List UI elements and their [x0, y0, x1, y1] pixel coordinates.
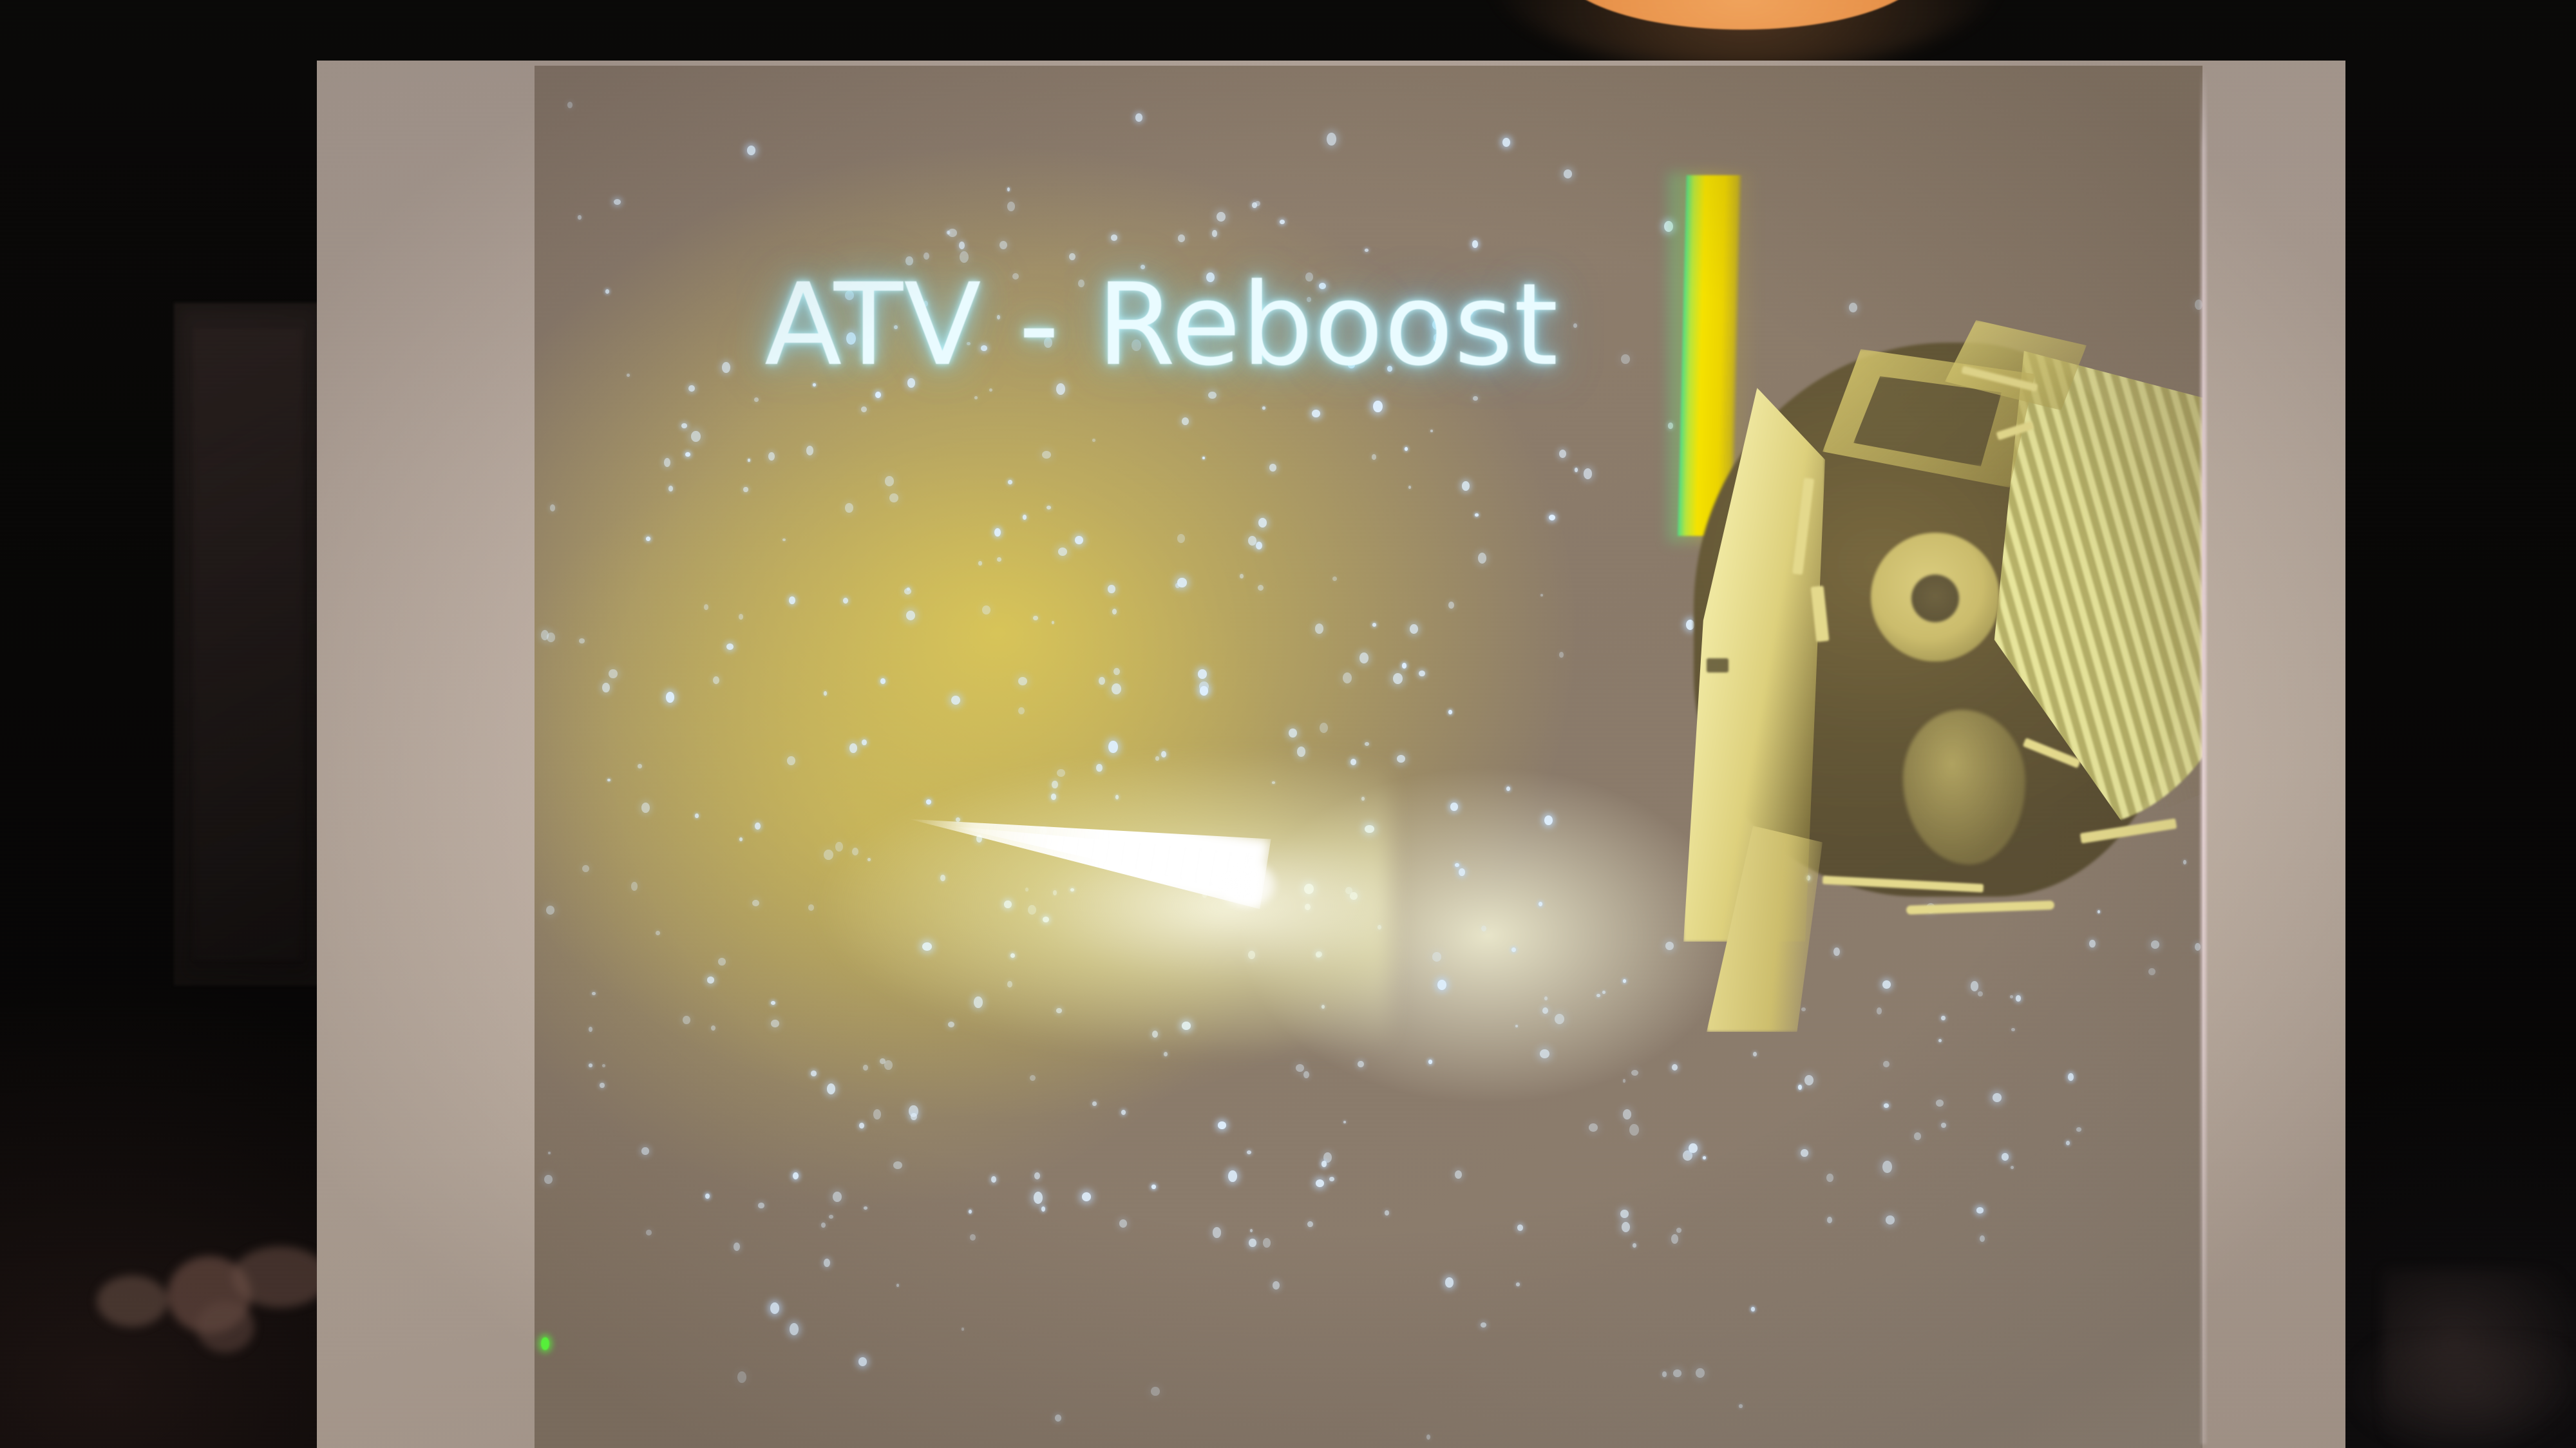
- star: [1502, 138, 1510, 147]
- star: [1255, 201, 1260, 206]
- star: [1249, 1239, 1256, 1247]
- star: [1240, 574, 1244, 578]
- star: [1177, 534, 1185, 543]
- star: [1046, 506, 1051, 510]
- star: [579, 638, 585, 643]
- star: [2002, 1153, 2009, 1161]
- star: [544, 1175, 553, 1184]
- star: [969, 1210, 972, 1214]
- star: [722, 362, 730, 373]
- star: [726, 643, 734, 650]
- star: [739, 837, 743, 841]
- star: [824, 691, 827, 696]
- star: [1516, 1282, 1520, 1286]
- star: [1696, 1368, 1705, 1378]
- star: [582, 865, 589, 872]
- star: [1273, 1281, 1280, 1290]
- star: [541, 630, 549, 640]
- star: [713, 676, 719, 684]
- star: [906, 611, 915, 620]
- star: [1481, 1322, 1486, 1328]
- atv-spacecraft: [1546, 66, 2202, 1032]
- star: [754, 397, 759, 402]
- star: [1315, 624, 1323, 634]
- star: [1269, 464, 1276, 472]
- star: [718, 958, 726, 966]
- star: [1941, 1123, 1946, 1128]
- star: [1052, 621, 1054, 624]
- star: [567, 102, 573, 108]
- star: [1111, 234, 1117, 241]
- star: [861, 406, 867, 412]
- star: [666, 692, 674, 703]
- star: [1753, 1052, 1757, 1056]
- star: [999, 241, 1007, 249]
- star: [1405, 447, 1408, 451]
- star: [951, 696, 960, 705]
- star: [863, 1065, 868, 1071]
- star: [627, 374, 630, 377]
- star: [997, 557, 1001, 562]
- star: [1343, 672, 1352, 683]
- star: [1312, 410, 1320, 417]
- star: [1329, 1177, 1334, 1181]
- star: [1042, 451, 1051, 459]
- star: [1023, 515, 1027, 520]
- star: [991, 1176, 996, 1183]
- star: [1018, 707, 1025, 714]
- star: [771, 1001, 775, 1005]
- star: [641, 1147, 649, 1155]
- star: [1883, 1061, 1889, 1067]
- star: [1030, 1075, 1036, 1081]
- star: [884, 1060, 893, 1070]
- star: [1445, 1277, 1454, 1288]
- star: [589, 1027, 592, 1032]
- star: [1303, 1071, 1309, 1078]
- star: [824, 1259, 830, 1267]
- star: [911, 1113, 917, 1120]
- star: [1703, 1156, 1706, 1159]
- slide-title: ATV - Reboost: [764, 259, 1558, 391]
- star: [1683, 1150, 1692, 1161]
- star: [1092, 1101, 1097, 1106]
- presentation-slide: ATV - Reboost: [535, 66, 2202, 1448]
- star: [1296, 1064, 1304, 1072]
- star: [875, 392, 881, 398]
- star: [843, 598, 848, 604]
- framed-picture-inner: [193, 329, 303, 960]
- star: [1826, 1174, 1833, 1182]
- star: [1119, 1219, 1127, 1228]
- star: [638, 764, 642, 768]
- star: [1623, 1079, 1625, 1083]
- star: [1135, 113, 1142, 122]
- star: [1343, 1121, 1346, 1123]
- star: [1151, 1185, 1156, 1189]
- star: [1372, 454, 1376, 460]
- star: [827, 1083, 835, 1094]
- star: [889, 493, 898, 502]
- star: [994, 528, 1001, 537]
- star: [2011, 1166, 2014, 1169]
- star: [1980, 1235, 1985, 1242]
- star: [711, 1025, 715, 1031]
- thruster-nozzle-flash: [1218, 862, 1276, 907]
- star: [1280, 220, 1285, 224]
- star: [1976, 1207, 1984, 1214]
- star: [743, 487, 748, 492]
- star: [1202, 457, 1205, 459]
- star: [1884, 1103, 1889, 1108]
- star: [829, 1215, 833, 1219]
- star: [1426, 1434, 1430, 1440]
- star: [948, 229, 957, 237]
- star: [1827, 1217, 1832, 1223]
- star: [1217, 212, 1226, 222]
- star: [1739, 1404, 1743, 1408]
- star: [1410, 624, 1418, 634]
- star: [1008, 480, 1012, 484]
- star: [858, 1357, 867, 1366]
- star: [1539, 902, 1542, 906]
- star: [1258, 585, 1264, 591]
- star: [885, 476, 894, 486]
- star: [1408, 486, 1411, 489]
- star: [1178, 234, 1185, 242]
- star: [961, 1328, 964, 1331]
- star: [592, 992, 596, 995]
- star: [1478, 553, 1486, 564]
- star: [1882, 1161, 1892, 1173]
- star: [1540, 594, 1543, 596]
- star: [685, 452, 690, 457]
- star: [748, 459, 750, 462]
- star: [1511, 948, 1516, 952]
- star: [1175, 583, 1180, 588]
- projection-screen: ATV - Reboost: [317, 61, 2345, 1448]
- star: [1432, 952, 1441, 962]
- star: [631, 882, 638, 891]
- star: [1200, 686, 1208, 696]
- star: [1506, 786, 1510, 791]
- star: [1041, 1206, 1045, 1212]
- star: [1631, 1070, 1638, 1076]
- star: [1462, 481, 1470, 491]
- star: [1199, 681, 1209, 691]
- star: [1034, 1192, 1043, 1204]
- star: [1673, 1369, 1681, 1377]
- star: [1993, 1093, 2002, 1102]
- star: [1208, 392, 1217, 399]
- star: [1662, 1371, 1667, 1377]
- star: [688, 385, 695, 392]
- star: [1804, 1075, 1814, 1085]
- star: [1540, 1049, 1549, 1058]
- star: [1450, 803, 1458, 811]
- star: [691, 431, 701, 442]
- star: [864, 1206, 867, 1210]
- star: [821, 1223, 826, 1228]
- star: [1108, 585, 1115, 593]
- star: [793, 1172, 799, 1179]
- star: [602, 683, 610, 692]
- star: [1018, 677, 1027, 685]
- star: [1055, 1415, 1061, 1422]
- star: [605, 289, 609, 294]
- star: [1151, 1387, 1160, 1396]
- star: [1372, 623, 1376, 627]
- star: [1121, 1110, 1126, 1115]
- star: [1177, 578, 1187, 587]
- star: [2076, 1127, 2081, 1132]
- star: [1323, 1152, 1332, 1163]
- star: [1622, 1222, 1630, 1232]
- star: [1307, 1221, 1313, 1227]
- star: [646, 537, 650, 541]
- star: [1455, 863, 1459, 867]
- latch-1: [1707, 658, 1728, 672]
- star: [1247, 1150, 1251, 1154]
- star: [1250, 1229, 1253, 1232]
- star: [1320, 723, 1328, 733]
- star: [1437, 980, 1446, 990]
- star: [771, 1020, 779, 1027]
- star: [896, 1284, 899, 1287]
- star: [880, 678, 885, 684]
- star: [1397, 755, 1405, 763]
- star: [1448, 710, 1452, 714]
- star: [1751, 1307, 1755, 1311]
- star: [1393, 673, 1403, 684]
- star: [1256, 542, 1262, 549]
- star: [704, 604, 708, 610]
- star: [1164, 1052, 1168, 1056]
- photo-scene: ATV - Reboost: [0, 0, 2576, 1448]
- star: [609, 669, 618, 678]
- star: [845, 503, 853, 513]
- star: [1517, 1224, 1523, 1231]
- star: [1198, 669, 1207, 679]
- star: [607, 779, 611, 781]
- star: [1212, 230, 1217, 237]
- star: [904, 588, 911, 595]
- star: [602, 1064, 605, 1067]
- star: [1373, 401, 1383, 412]
- star: [1082, 1192, 1091, 1201]
- star: [1365, 249, 1368, 252]
- star: [1248, 536, 1256, 546]
- star: [2066, 1141, 2070, 1145]
- star: [1112, 609, 1117, 614]
- star: [1321, 1161, 1327, 1167]
- star: [664, 458, 670, 467]
- star: [589, 1063, 592, 1067]
- star: [705, 1194, 710, 1199]
- star: [1213, 1227, 1221, 1238]
- star: [1448, 602, 1454, 609]
- star: [1289, 729, 1297, 738]
- star: [1075, 536, 1083, 544]
- star: [1332, 576, 1337, 581]
- flower-1: [97, 1275, 167, 1327]
- star: [739, 614, 743, 620]
- star: [859, 1123, 864, 1129]
- star: [1886, 1215, 1895, 1224]
- star: [1472, 240, 1478, 248]
- star: [909, 1105, 918, 1117]
- star: [548, 1152, 551, 1154]
- star: [907, 587, 910, 591]
- star: [547, 633, 555, 642]
- star: [668, 486, 673, 491]
- star: [1671, 1234, 1678, 1244]
- star: [880, 1058, 885, 1064]
- star: [1481, 926, 1486, 931]
- docking-port-aperture: [1911, 575, 1959, 622]
- star: [1034, 1172, 1040, 1179]
- star: [1252, 202, 1257, 208]
- star: [1938, 1039, 1942, 1042]
- star: [737, 1371, 746, 1383]
- star: [641, 803, 650, 813]
- star: [1623, 1109, 1631, 1119]
- star: [1689, 1143, 1698, 1153]
- star: [1033, 616, 1038, 620]
- star: [893, 1161, 902, 1169]
- star: [1914, 1132, 1921, 1140]
- star: [1676, 1228, 1681, 1233]
- star: [811, 1071, 817, 1076]
- star: [970, 1234, 976, 1241]
- star: [707, 976, 714, 984]
- star: [947, 231, 950, 234]
- star: [1359, 653, 1368, 663]
- furniture-silhouette: [2344, 1340, 2576, 1448]
- star: [1327, 133, 1336, 146]
- star: [1218, 1121, 1226, 1129]
- star: [1228, 1170, 1237, 1182]
- star: [978, 561, 982, 566]
- star: [1007, 187, 1010, 191]
- star: [862, 739, 867, 745]
- star: [1112, 683, 1121, 694]
- plume-halo: [811, 748, 1391, 1051]
- star: [1402, 663, 1406, 669]
- star: [873, 1109, 881, 1119]
- star: [758, 1203, 764, 1208]
- star: [1629, 1124, 1639, 1136]
- star: [656, 931, 660, 935]
- star: [695, 814, 699, 818]
- star: [1316, 1179, 1324, 1187]
- star: [1099, 677, 1105, 685]
- star: [1672, 1064, 1678, 1071]
- star: [768, 452, 775, 461]
- flower-arrangement: [71, 1211, 341, 1404]
- star: [1007, 202, 1015, 211]
- star: [614, 199, 621, 205]
- star: [806, 446, 813, 455]
- star: [1936, 1100, 1944, 1107]
- star: [789, 596, 795, 604]
- star: [833, 1192, 842, 1202]
- star: [1419, 671, 1425, 676]
- star: [1430, 430, 1433, 432]
- star: [1801, 1149, 1808, 1157]
- star: [1620, 1210, 1629, 1218]
- star: [550, 504, 555, 511]
- star: [1515, 1025, 1518, 1027]
- star: [734, 1243, 740, 1251]
- star: [1263, 1238, 1271, 1248]
- star: [600, 1083, 605, 1088]
- star: [1113, 668, 1120, 675]
- star: [1475, 513, 1479, 517]
- star: [1459, 868, 1465, 876]
- star: [1262, 406, 1265, 410]
- star: [546, 906, 554, 915]
- star: [578, 215, 582, 220]
- star: [1358, 1061, 1364, 1067]
- star: [787, 756, 795, 765]
- screen-crease: [2201, 66, 2206, 1444]
- laser-pointer-dot: [541, 1337, 549, 1350]
- star: [1182, 417, 1189, 425]
- star: [782, 538, 786, 541]
- star: [1258, 518, 1267, 528]
- star: [1385, 1210, 1389, 1215]
- star: [770, 1302, 779, 1314]
- star: [790, 1323, 799, 1335]
- star: [747, 146, 755, 155]
- star: [646, 1230, 652, 1235]
- star: [2068, 1073, 2074, 1081]
- hardware-row: [1906, 900, 2054, 915]
- star: [683, 1016, 690, 1024]
- star: [1473, 396, 1478, 401]
- flower-3: [232, 1246, 328, 1308]
- star: [1798, 1085, 1802, 1090]
- star: [1428, 1060, 1432, 1064]
- star: [959, 242, 965, 249]
- star: [1365, 742, 1369, 746]
- star: [974, 396, 978, 399]
- star: [755, 823, 761, 830]
- flower-4: [196, 1301, 254, 1353]
- star: [1455, 1170, 1462, 1179]
- star: [1092, 439, 1095, 442]
- star: [1589, 1123, 1598, 1132]
- star: [982, 605, 990, 614]
- star: [1058, 548, 1067, 556]
- star: [681, 423, 687, 428]
- star: [752, 900, 759, 906]
- star: [1633, 1243, 1636, 1248]
